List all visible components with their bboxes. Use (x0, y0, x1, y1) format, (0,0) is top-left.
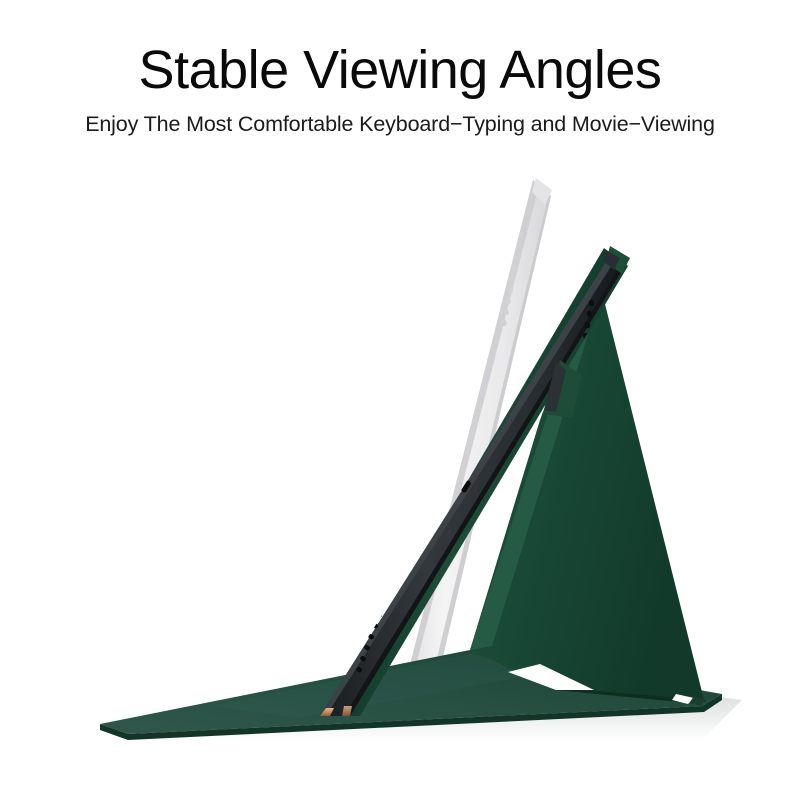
promo-banner: Stable Viewing Angles Enjoy The Most Com… (0, 0, 800, 800)
text-block: Stable Viewing Angles Enjoy The Most Com… (0, 0, 800, 137)
page-subtitle: Enjoy The Most Comfortable Keyboard−Typi… (0, 99, 800, 138)
page-title: Stable Viewing Angles (0, 0, 800, 99)
